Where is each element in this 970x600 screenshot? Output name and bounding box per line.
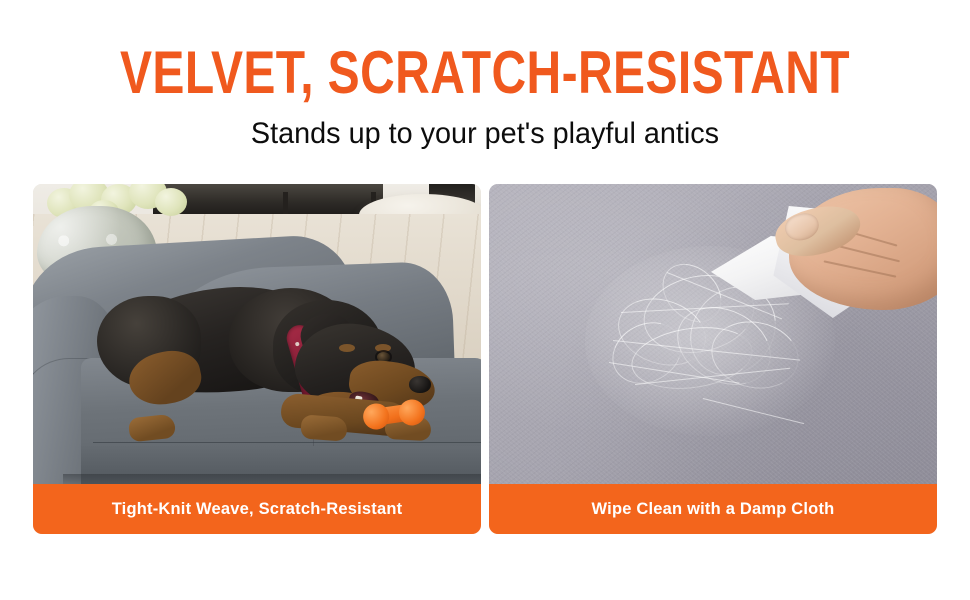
rottweiler-dog bbox=[33, 184, 481, 484]
caption-left: Tight-Knit Weave, Scratch-Resistant bbox=[33, 484, 481, 534]
page-subtitle: Stands up to your pet's playful antics bbox=[19, 116, 950, 152]
dog-paw bbox=[128, 414, 176, 443]
feature-card-right: Wipe Clean with a Damp Cloth bbox=[489, 184, 937, 534]
toy-knob bbox=[397, 398, 426, 427]
dog-paw bbox=[300, 414, 348, 441]
photo-wipe-clean-velvet bbox=[489, 184, 937, 484]
feature-card-left: Tight-Knit Weave, Scratch-Resistant bbox=[33, 184, 481, 534]
caption-right: Wipe Clean with a Damp Cloth bbox=[489, 484, 937, 534]
photo-dog-on-velvet-sofa bbox=[33, 184, 481, 484]
dog-nose bbox=[409, 376, 431, 393]
page-title: VELVET, SCRATCH-RESISTANT bbox=[97, 42, 873, 104]
dog-brow-marking bbox=[375, 344, 391, 352]
dog-brow-marking bbox=[339, 344, 355, 352]
promo-banner: VELVET, SCRATCH-RESISTANT Stands up to y… bbox=[0, 0, 970, 600]
